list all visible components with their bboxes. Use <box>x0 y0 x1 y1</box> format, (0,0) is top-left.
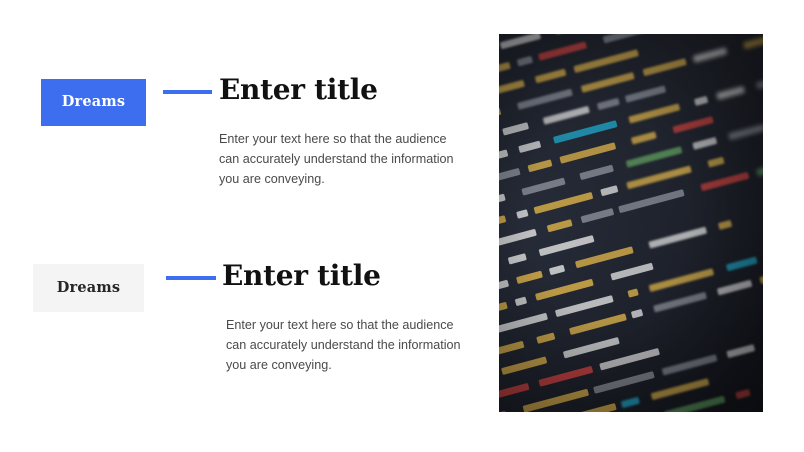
code-token <box>743 34 763 49</box>
code-token <box>499 302 507 323</box>
code-token <box>499 149 509 166</box>
code-token <box>701 172 750 191</box>
code-token <box>543 106 590 125</box>
code-token <box>726 256 758 271</box>
code-line <box>499 34 763 97</box>
code-token <box>643 58 688 76</box>
code-token <box>499 80 525 100</box>
code-token <box>600 348 660 370</box>
code-token <box>499 215 506 233</box>
code-token <box>523 389 589 412</box>
code-token <box>664 395 726 412</box>
code-token <box>693 137 718 150</box>
code-token <box>618 189 685 213</box>
code-token <box>517 56 534 67</box>
code-token <box>569 313 627 335</box>
code-token <box>538 235 594 256</box>
code-token <box>727 344 755 358</box>
code-token <box>499 313 548 336</box>
code-token <box>553 120 617 143</box>
code-token <box>672 116 713 133</box>
code-token <box>499 280 510 295</box>
code-token <box>653 292 707 313</box>
code-token <box>581 72 635 93</box>
code-token <box>648 227 707 249</box>
code-token <box>499 229 537 248</box>
code-token <box>549 265 566 276</box>
code-token <box>500 34 541 49</box>
code-token <box>499 411 507 412</box>
code-token <box>600 185 618 196</box>
code-token <box>519 141 542 153</box>
code-token <box>661 354 718 375</box>
code-token <box>708 157 725 168</box>
code-token <box>756 161 763 177</box>
code-token <box>554 403 617 412</box>
code-token <box>693 47 728 63</box>
accent-rule <box>166 276 216 280</box>
code-token <box>499 341 525 359</box>
code-token <box>536 333 555 344</box>
badge-label: Dreams <box>62 95 126 110</box>
code-token <box>716 86 745 100</box>
code-token <box>718 220 733 230</box>
code-token <box>499 168 520 186</box>
code-token <box>563 337 620 358</box>
code-token <box>581 208 614 223</box>
badge-dreams-ghost[interactable]: Dreams <box>33 264 144 312</box>
code-token <box>516 271 543 285</box>
code-token <box>650 378 709 400</box>
code-token <box>575 246 633 268</box>
code-token <box>625 85 666 102</box>
code-token <box>502 122 529 135</box>
code-token <box>535 279 594 301</box>
code-token <box>574 49 639 73</box>
code-token <box>517 89 573 110</box>
code-token <box>547 219 573 232</box>
code-token <box>507 253 526 264</box>
code-token <box>534 69 567 84</box>
code-token <box>728 124 763 140</box>
code-token <box>580 165 615 181</box>
code-token <box>759 274 763 284</box>
code-token <box>555 295 614 317</box>
code-token <box>629 103 681 123</box>
code-token <box>533 192 593 214</box>
code-photo <box>499 34 763 412</box>
code-token <box>603 34 659 43</box>
code-token <box>755 75 763 90</box>
code-token <box>717 280 752 296</box>
accent-rule <box>163 90 212 94</box>
code-token <box>501 356 548 375</box>
block-body: Enter your text here so that the audienc… <box>226 315 471 375</box>
code-token <box>499 62 511 80</box>
block-body: Enter your text here so that the audienc… <box>219 129 469 189</box>
code-token <box>631 131 657 144</box>
code-token <box>528 159 552 172</box>
code-token <box>516 209 528 219</box>
code-token <box>499 194 505 211</box>
code-token <box>627 288 639 297</box>
code-token <box>694 96 709 106</box>
code-token <box>539 366 593 387</box>
slide-canvas: Dreams Enter title Enter your text here … <box>0 0 804 452</box>
code-token <box>626 166 691 190</box>
code-token <box>515 296 528 306</box>
code-token <box>593 371 655 394</box>
code-token <box>621 397 640 408</box>
code-photo-content <box>499 34 763 412</box>
block-title: Enter title <box>219 76 378 104</box>
badge-label: Dreams <box>57 281 121 296</box>
code-token <box>554 34 592 35</box>
block-title: Enter title <box>222 262 381 290</box>
code-token <box>736 389 750 399</box>
code-token <box>626 146 683 168</box>
code-token <box>610 263 653 281</box>
code-token <box>522 177 566 195</box>
code-token <box>597 98 620 111</box>
code-token <box>560 142 616 163</box>
code-token <box>499 108 501 129</box>
code-token <box>648 268 714 292</box>
code-token <box>538 41 586 60</box>
code-token <box>499 383 530 399</box>
code-token <box>631 309 643 319</box>
badge-dreams-filled[interactable]: Dreams <box>41 79 146 126</box>
